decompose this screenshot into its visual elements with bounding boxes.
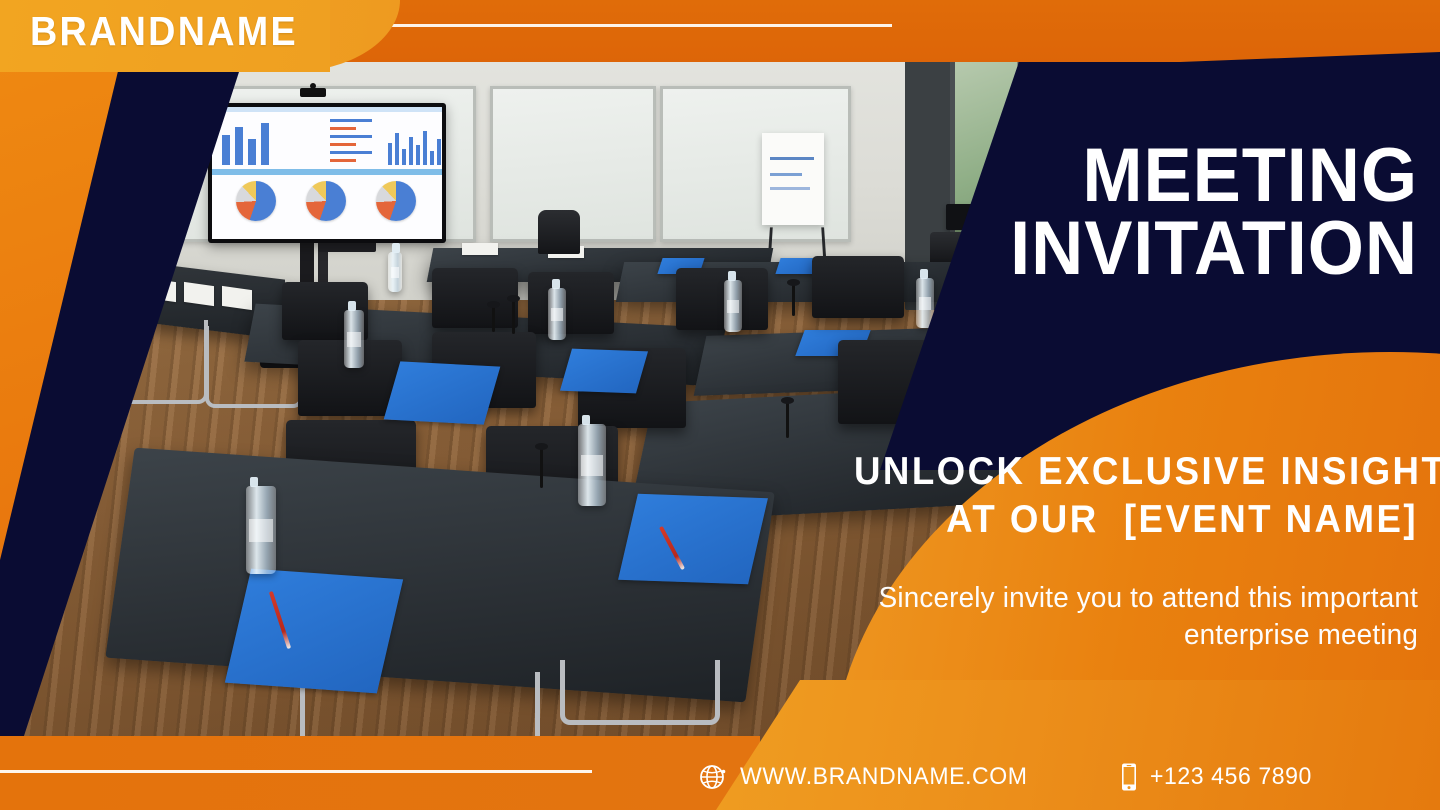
microphone: [512, 300, 515, 334]
name-card: [462, 243, 498, 255]
flipchart-board: [762, 133, 824, 225]
page-title: MEETING INVITATION: [938, 140, 1418, 286]
chair: [432, 268, 518, 328]
blue-folder: [560, 349, 648, 394]
bottom-orange-bar: [0, 736, 760, 810]
website-text: WWW.BRANDNAME.COM: [740, 763, 1028, 791]
globe-icon: [698, 762, 728, 792]
water-bottle: [388, 252, 402, 292]
microphone: [540, 448, 543, 488]
blue-folder: [384, 361, 501, 424]
title-line-1: MEETING: [962, 140, 1418, 213]
dashboard-slide: [212, 107, 442, 239]
water-bottle: [548, 288, 566, 340]
water-bottle: [344, 310, 364, 368]
water-bottle: [246, 486, 276, 574]
chair: [676, 268, 768, 330]
headline-line-2: AT OUR [EVENT NAME]: [854, 496, 1418, 544]
chair: [812, 256, 904, 318]
chair: [538, 210, 580, 254]
blue-folder: [618, 494, 768, 585]
chair: [528, 272, 614, 334]
body-line-2: enterprise meeting: [832, 617, 1418, 654]
water-bottle: [578, 424, 606, 506]
phone-text: +123 456 7890: [1150, 763, 1312, 791]
brand-name: BRANDNAME: [30, 8, 298, 55]
microphone: [492, 306, 495, 332]
water-bottle: [724, 280, 742, 332]
title-line-2: INVITATION: [962, 213, 1418, 286]
headline: UNLOCK EXCLUSIVE INSIGHTS AT OUR [EVENT …: [818, 448, 1418, 543]
body-text: Sincerely invite you to attend this impo…: [808, 580, 1418, 654]
tv-camera: [300, 88, 326, 97]
presentation-screen: [208, 103, 446, 243]
bottom-divider-line: [0, 770, 592, 773]
top-divider-line: [372, 24, 892, 27]
paper-sheet: [222, 286, 252, 310]
mobile-phone-icon: [1120, 762, 1138, 792]
microphone: [786, 402, 789, 438]
body-line-1: Sincerely invite you to attend this impo…: [832, 580, 1418, 617]
blue-folder: [225, 569, 403, 694]
meeting-invitation-poster: BRANDNAME MEETING INVITATION UNLOCK EXCL…: [0, 0, 1440, 810]
website-contact[interactable]: WWW.BRANDNAME.COM: [698, 762, 1040, 792]
table-legs: [560, 660, 720, 725]
paper-sheet: [184, 282, 214, 306]
microphone: [792, 284, 795, 316]
headline-line-1: UNLOCK EXCLUSIVE INSIGHTS: [854, 448, 1418, 496]
phone-contact[interactable]: +123 456 7890: [1120, 762, 1319, 792]
